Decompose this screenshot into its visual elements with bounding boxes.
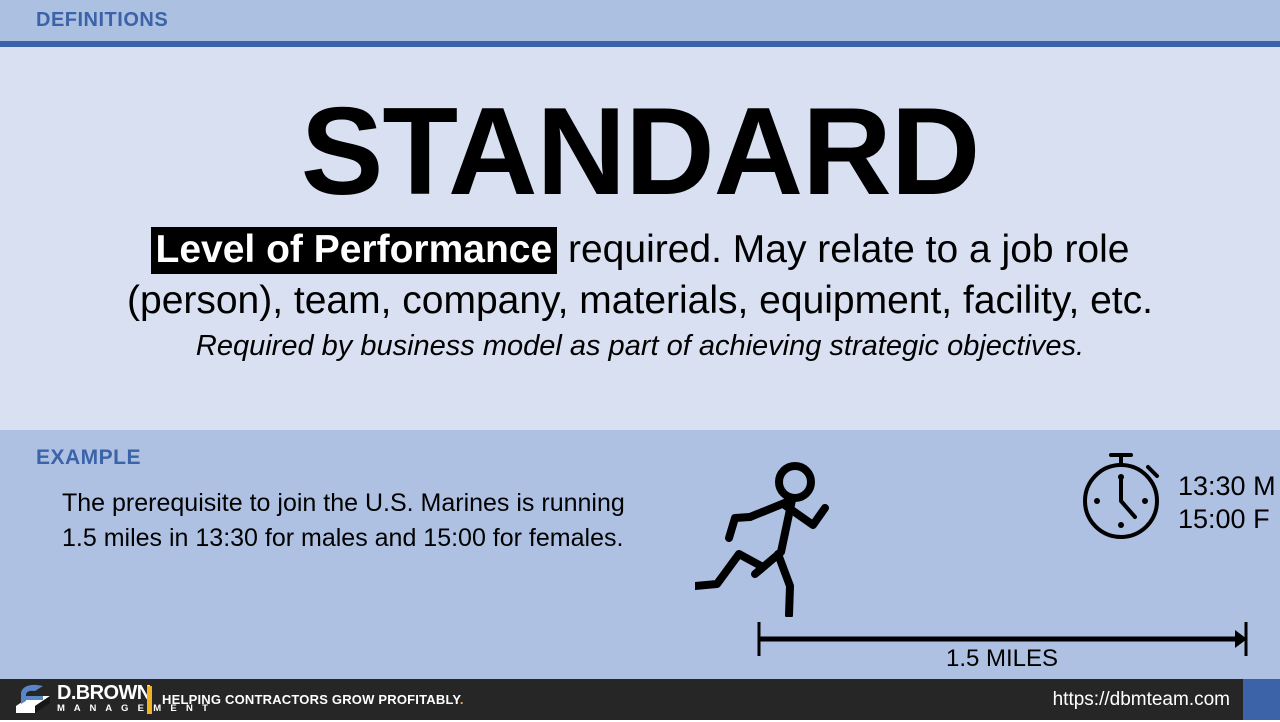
footer-accent-block	[1243, 679, 1280, 720]
time-male: 13:30 M	[1178, 470, 1276, 503]
definition-line-1: Level of Performance required. May relat…	[0, 225, 1280, 275]
page-title: STANDARD	[0, 90, 1280, 214]
example-text: The prerequisite to join the U.S. Marine…	[62, 486, 722, 556]
logo-divider	[147, 686, 152, 714]
example-section-label: EXAMPLE	[36, 446, 141, 470]
definitions-section-label: DEFINITIONS	[36, 9, 168, 32]
definition-note: Required by business model as part of ac…	[0, 327, 1280, 365]
definition-line-2: (person), team, company, materials, equi…	[0, 276, 1280, 326]
dbrown-swoosh-logo-icon	[13, 684, 53, 722]
example-text-line-2: 1.5 miles in 13:30 for males and 15:00 f…	[62, 521, 722, 556]
time-female: 15:00 F	[1178, 503, 1276, 536]
footer-tagline: HELPING CONTRACTORS GROW PROFITABLY.	[162, 692, 464, 707]
definition-line-1-rest: required. May relate to a job role	[557, 228, 1129, 271]
running-person-icon	[695, 462, 845, 622]
example-text-line-1: The prerequisite to join the U.S. Marine…	[62, 486, 722, 521]
footer-tagline-text: HELPING CONTRACTORS GROW PROFITABLY	[162, 692, 460, 707]
highlight-phrase: Level of Performance	[151, 227, 558, 274]
stopwatch-times: 13:30 M 15:00 F	[1178, 470, 1276, 536]
stopwatch-icon	[1073, 443, 1173, 548]
definitions-band: DEFINITIONS	[0, 0, 1280, 41]
distance-label: 1.5 MILES	[757, 645, 1247, 673]
footer-tagline-dot: .	[460, 692, 464, 707]
footer-url[interactable]: https://dbmteam.com	[1053, 689, 1230, 711]
slide: DEFINITIONS STANDARD Level of Performanc…	[0, 0, 1280, 720]
definition-body: STANDARD Level of Performance required. …	[0, 47, 1280, 430]
